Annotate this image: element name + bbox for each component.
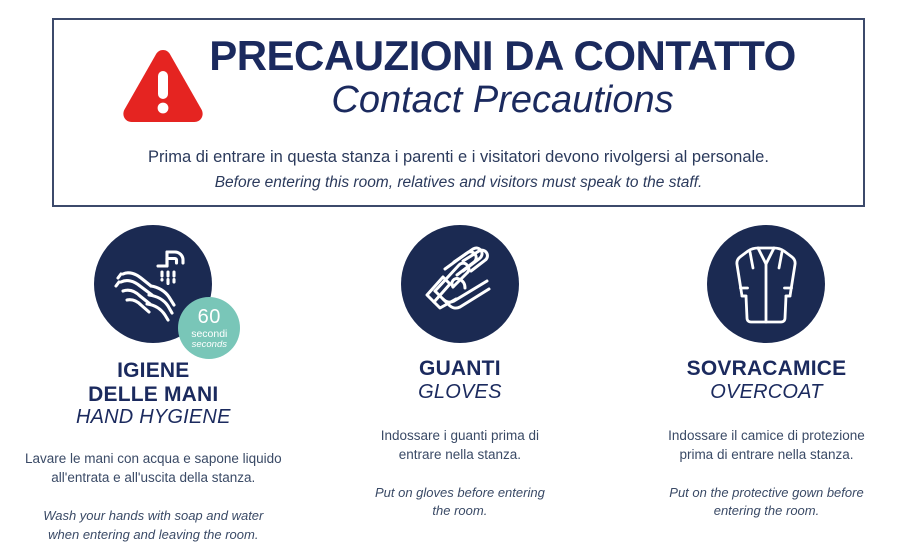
heading-hand-hygiene: IGIENE DELLE MANI HAND HYGIENE [76, 359, 231, 429]
header-box: PRECAUZIONI DA CONTATTO Contact Precauti… [52, 18, 865, 207]
medical-gown-icon [720, 238, 812, 330]
poster-title-italian: PRECAUZIONI DA CONTATTO [209, 34, 796, 77]
heading-italian-line1: IGIENE [76, 359, 231, 383]
body-italian-line2: entrare nella stanza. [325, 445, 595, 464]
heading-english: HAND HYGIENE [76, 406, 231, 429]
body-gloves: Indossare i guanti prima di entrare nell… [325, 426, 595, 521]
heading-english: GLOVES [418, 381, 501, 404]
gloves-icon [415, 239, 505, 329]
body-italian-line1: Lavare le mani con acqua e sapone liquid… [18, 449, 288, 468]
badge-label-italian: secondi [191, 329, 227, 340]
body-italian-line2: all'entrata e all'uscita della stanza. [18, 468, 288, 487]
badge-number: 60 [198, 307, 221, 327]
medical-gown-icon-wrap [707, 225, 825, 343]
precaution-column-gloves: GUANTI GLOVES Indossare i guanti prima d… [307, 225, 614, 544]
body-italian-line2: prima di entrare nella stanza. [631, 445, 901, 464]
title-row: PRECAUZIONI DA CONTATTO Contact Precauti… [54, 30, 863, 124]
heading-gloves: GUANTI GLOVES [418, 357, 501, 404]
body-english-line2: when entering and leaving the room. [18, 526, 288, 544]
gloves-icon-circle [401, 225, 519, 343]
heading-italian-line1: SOVRACAMICE [687, 357, 847, 381]
heading-english: OVERCOAT [687, 381, 847, 404]
body-hand-hygiene: Lavare le mani con acqua e sapone liquid… [18, 449, 288, 544]
body-overcoat: Indossare il camice di protezione prima … [631, 426, 901, 521]
body-english-line1: Put on gloves before entering [325, 484, 595, 502]
gloves-icon-wrap [401, 225, 519, 343]
poster-title-english: Contact Precautions [209, 79, 796, 122]
heading-italian-line1: GUANTI [418, 357, 501, 381]
title-block: PRECAUZIONI DA CONTATTO Contact Precauti… [209, 30, 796, 122]
medical-gown-icon-circle [707, 225, 825, 343]
body-english-line1: Wash your hands with soap and water [18, 507, 288, 525]
body-english-line2: entering the room. [631, 502, 901, 520]
precaution-column-overcoat: SOVRACAMICE OVERCOAT Indossare il camice… [613, 225, 920, 544]
heading-overcoat: SOVRACAMICE OVERCOAT [687, 357, 847, 404]
precaution-columns: 60 secondi seconds IGIENE DELLE MANI HAN… [0, 225, 920, 544]
hand-washing-icon-wrap: 60 secondi seconds [94, 225, 212, 343]
body-english-line1: Put on the protective gown before [631, 484, 901, 502]
subtitle-english: Before entering this room, relatives and… [54, 172, 863, 194]
heading-italian-line2: DELLE MANI [76, 383, 231, 407]
contact-precautions-poster: PRECAUZIONI DA CONTATTO Contact Precauti… [0, 0, 920, 533]
body-italian-line1: Indossare i guanti prima di [325, 426, 595, 445]
body-english-line2: the room. [325, 502, 595, 520]
precaution-column-hand-hygiene: 60 secondi seconds IGIENE DELLE MANI HAN… [0, 225, 307, 544]
subtitle-italian: Prima di entrare in questa stanza i pare… [54, 146, 863, 170]
badge-label-english: seconds [192, 340, 227, 350]
sixty-seconds-badge: 60 secondi seconds [178, 297, 240, 359]
body-italian-line1: Indossare il camice di protezione [631, 426, 901, 445]
header-subtitle: Prima di entrare in questa stanza i pare… [54, 146, 863, 194]
warning-triangle-icon [121, 46, 205, 124]
